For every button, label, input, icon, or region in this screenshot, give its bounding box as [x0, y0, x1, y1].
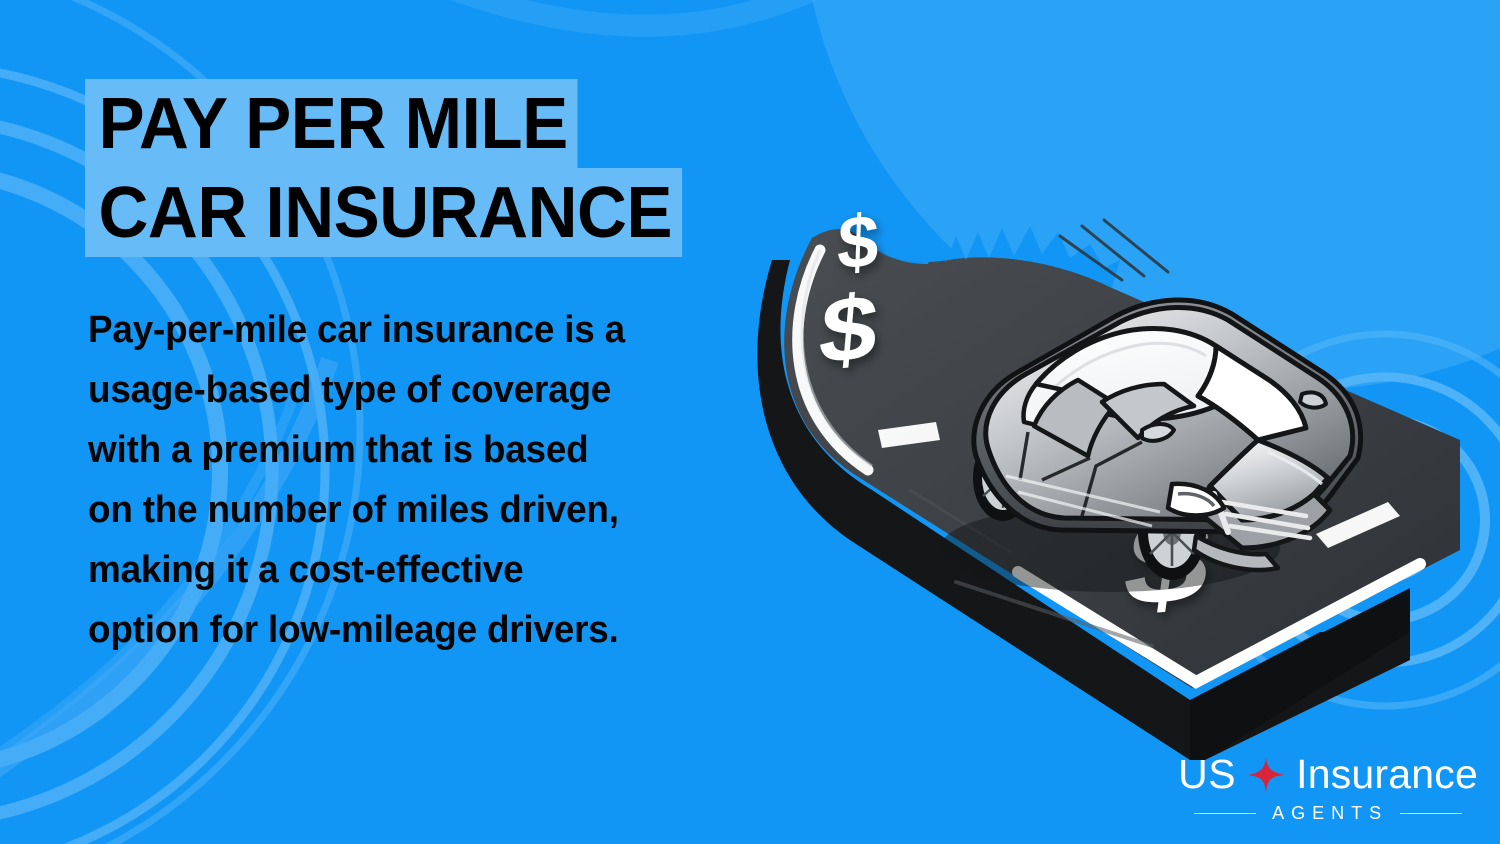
body-line-5: making it a cost-effective: [88, 540, 767, 600]
brand-logo[interactable]: US Insurance AGENTS: [1178, 754, 1478, 822]
headline-line-1: PAY PER MILE: [85, 79, 577, 168]
logo-us-text: US: [1178, 754, 1236, 795]
dollar-sign-small: $: [836, 199, 880, 285]
logo-rule-left: [1194, 813, 1256, 814]
dollar-sign-medium: $: [815, 275, 882, 383]
logo-primary-row: US Insurance: [1178, 754, 1478, 795]
road-car-illustration: $ $ $: [760, 140, 1460, 740]
star-icon: [1246, 755, 1286, 795]
headline: PAY PER MILE CAR INSURANCE: [85, 79, 707, 257]
logo-insurance-text: Insurance: [1296, 754, 1478, 795]
body-line-4: on the number of miles driven,: [88, 480, 767, 540]
headline-line-2: CAR INSURANCE: [85, 168, 682, 257]
body-line-2: usage-based type of coverage: [88, 360, 767, 420]
body-line-1: Pay-per-mile car insurance is a: [88, 300, 767, 360]
svg-text:$: $: [815, 275, 882, 383]
logo-agents-text: AGENTS: [1268, 804, 1388, 822]
body-line-6: option for low-mileage drivers.: [88, 600, 767, 660]
infographic-canvas: PAY PER MILE CAR INSURANCE Pay-per-mile …: [0, 0, 1500, 844]
body-line-3: with a premium that is based: [88, 420, 767, 480]
logo-rule-right: [1400, 813, 1462, 814]
body-paragraph: Pay-per-mile car insurance is a usage-ba…: [88, 300, 788, 660]
logo-secondary-row: AGENTS: [1178, 804, 1478, 822]
svg-text:$: $: [836, 199, 880, 285]
